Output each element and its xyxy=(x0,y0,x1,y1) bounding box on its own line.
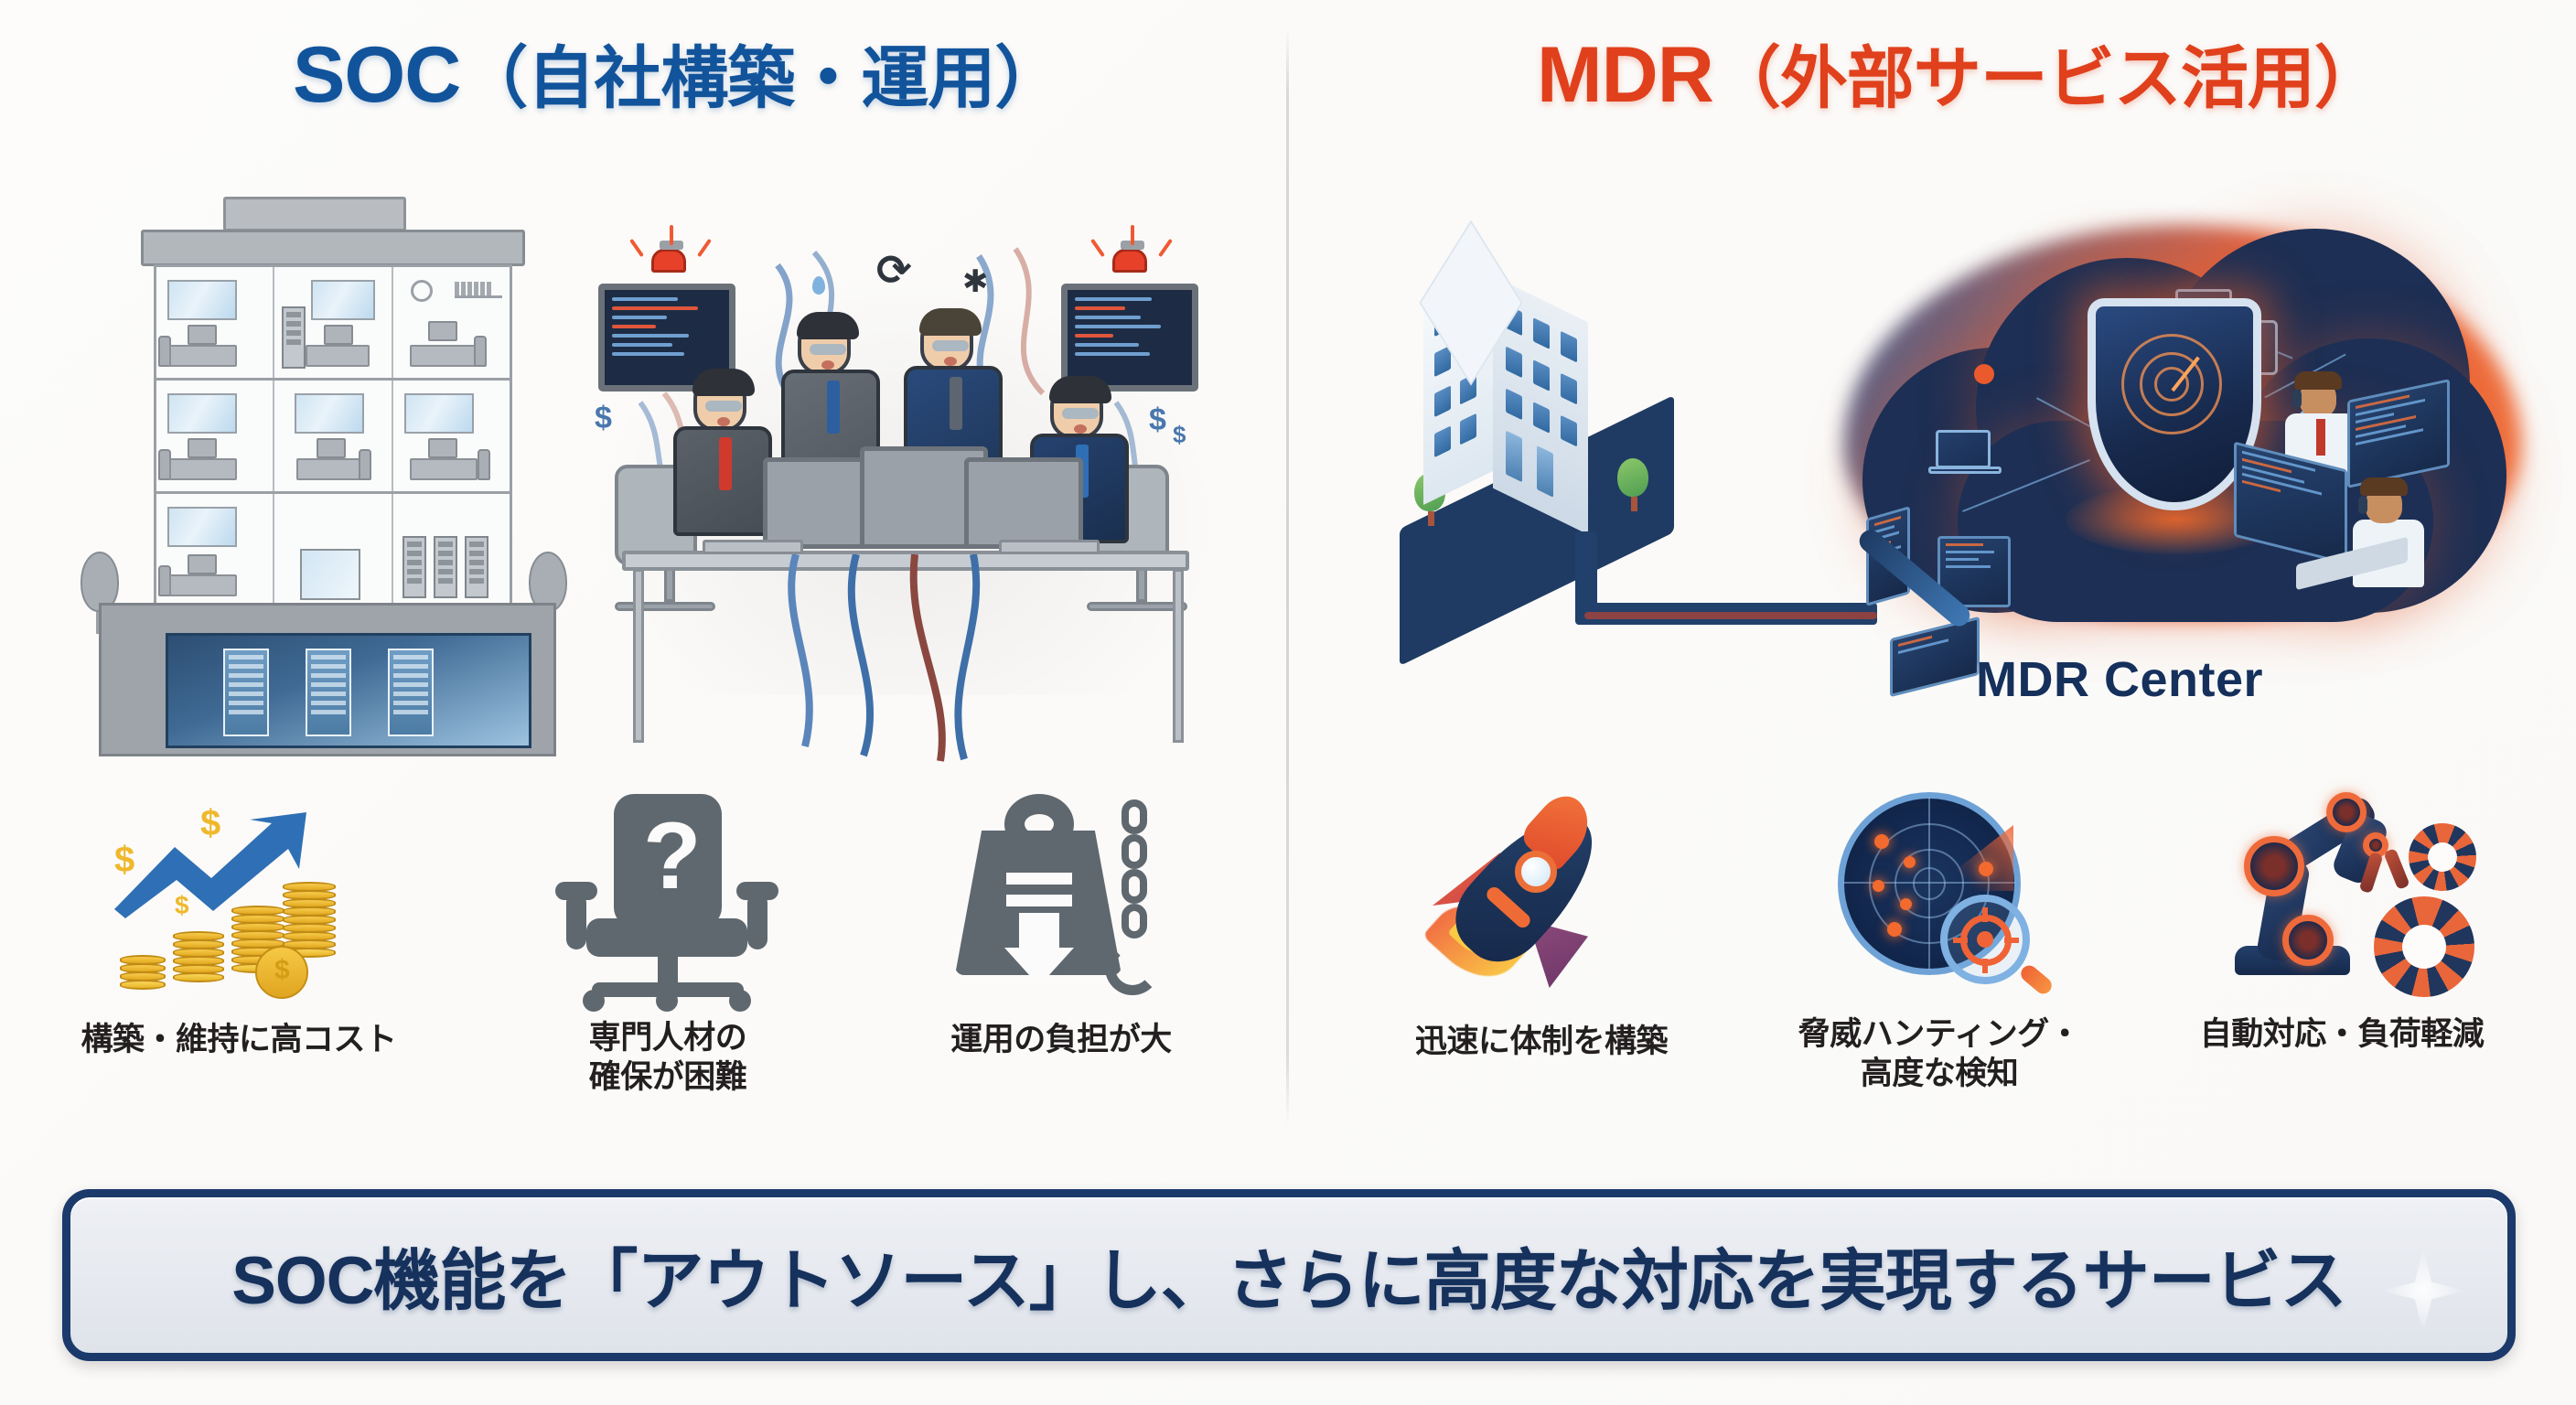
heavy-weight-icon xyxy=(933,794,1189,1017)
mdr-point-2: 脅威ハンティング・ 高度な検知 xyxy=(1756,783,2122,1093)
building-floor-3 xyxy=(156,267,510,381)
office-room xyxy=(274,381,392,491)
mdr-point-3: 自動対応・負荷軽減 xyxy=(2141,783,2543,1055)
soc-point-1: $ $ $ $ 構築・維持に高コスト xyxy=(24,794,454,1060)
summary-banner: SOC機能を「アウトソース」し、さらに高度な対応を実現するサービス xyxy=(62,1189,2516,1361)
mdr-section-title: MDR（外部サービス活用） xyxy=(1537,24,2381,122)
mdr-point-1-label: 迅速に体制を構築 xyxy=(1345,1023,1738,1062)
office-room-with-clock xyxy=(393,267,510,378)
dollar-symbol: $ xyxy=(595,401,612,436)
stressed-soc-team-illustration: ⟳ ✱ $ $ $ xyxy=(585,229,1226,768)
section-divider xyxy=(1286,27,1289,1125)
roof-cap xyxy=(223,197,406,231)
rising-cost-icon: $ $ $ $ xyxy=(102,794,376,1017)
soc-point-2-label: 専門人材の 確保が困難 xyxy=(485,1019,851,1097)
soc-title-paren: （自社構築・運用） xyxy=(460,40,1061,116)
keyboard xyxy=(999,540,1100,554)
desk-monitor xyxy=(964,457,1083,549)
office-room xyxy=(156,494,274,607)
building-entrance xyxy=(274,494,392,607)
anger-mark-icon: ✱ xyxy=(962,263,989,300)
building-basement xyxy=(99,603,556,756)
empty-chair-question-icon: ? xyxy=(548,794,788,1017)
office-room xyxy=(274,267,392,378)
mdr-security-cloud-illustration xyxy=(1820,210,2543,686)
dollar-symbol: $ xyxy=(1149,402,1166,438)
rocket-icon xyxy=(1427,794,1656,1017)
office-room xyxy=(156,267,274,378)
radar-magnifier-icon xyxy=(1825,783,2054,1014)
stress-swirl-icon: ⟳ xyxy=(876,245,912,295)
soc-section-title: SOC（自社構築・運用） xyxy=(293,24,1061,122)
gear-large-icon xyxy=(2374,896,2474,997)
gear-small-icon xyxy=(2409,823,2476,891)
sparkle-icon xyxy=(2381,1249,2465,1333)
office-room xyxy=(156,381,274,491)
building-floor-2 xyxy=(156,381,510,494)
isometric-office-building-illustration xyxy=(1381,242,1857,636)
analyst-seated-left xyxy=(673,373,772,536)
roof-slab xyxy=(141,230,525,266)
building-floor-1 xyxy=(156,494,510,607)
office-building-cutaway-illustration xyxy=(80,197,574,764)
datacenter-room xyxy=(166,633,531,748)
tree-decoration xyxy=(1617,458,1650,509)
threat-node-indicator xyxy=(1974,364,1994,384)
dollar-symbol: $ xyxy=(1173,421,1186,449)
soc-point-3-label: 運用の負担が大 xyxy=(860,1021,1262,1060)
server-room xyxy=(393,494,510,607)
summary-banner-text: SOC機能を「アウトソース」し、さらに高度な対応を実現するサービス xyxy=(231,1227,2346,1324)
building-body xyxy=(154,264,512,605)
soc-point-3: 運用の負担が大 xyxy=(860,794,1262,1060)
mdr-point-2-label: 脅威ハンティング・ 高度な検知 xyxy=(1756,1015,2122,1093)
mdr-point-1: 迅速に体制を構築 xyxy=(1345,794,1738,1062)
office-room xyxy=(393,381,510,491)
keyboard xyxy=(703,540,803,554)
robot-arm-gears-icon xyxy=(2211,783,2473,1014)
foreground-cables xyxy=(768,554,1079,792)
mdr-center-label: MDR Center xyxy=(1976,651,2263,708)
mdr-point-3-label: 自動対応・負荷軽減 xyxy=(2141,1015,2543,1055)
mdr-title-roman: MDR xyxy=(1537,31,1713,119)
laptop-device-icon xyxy=(1936,430,1991,468)
mdr-title-paren: （外部サービス活用） xyxy=(1713,40,2381,116)
mobile-scan-icon xyxy=(1890,617,1980,697)
soc-point-2: ? 専門人材の 確保が困難 xyxy=(485,794,851,1097)
soc-point-1-label: 構築・維持に高コスト xyxy=(24,1021,454,1060)
soc-title-roman: SOC xyxy=(293,31,460,119)
sweat-drop xyxy=(812,276,825,295)
laptop-base xyxy=(1928,467,2002,474)
infographic-canvas: SOC（自社構築・運用） MDR（外部サービス活用） xyxy=(0,0,2576,1405)
